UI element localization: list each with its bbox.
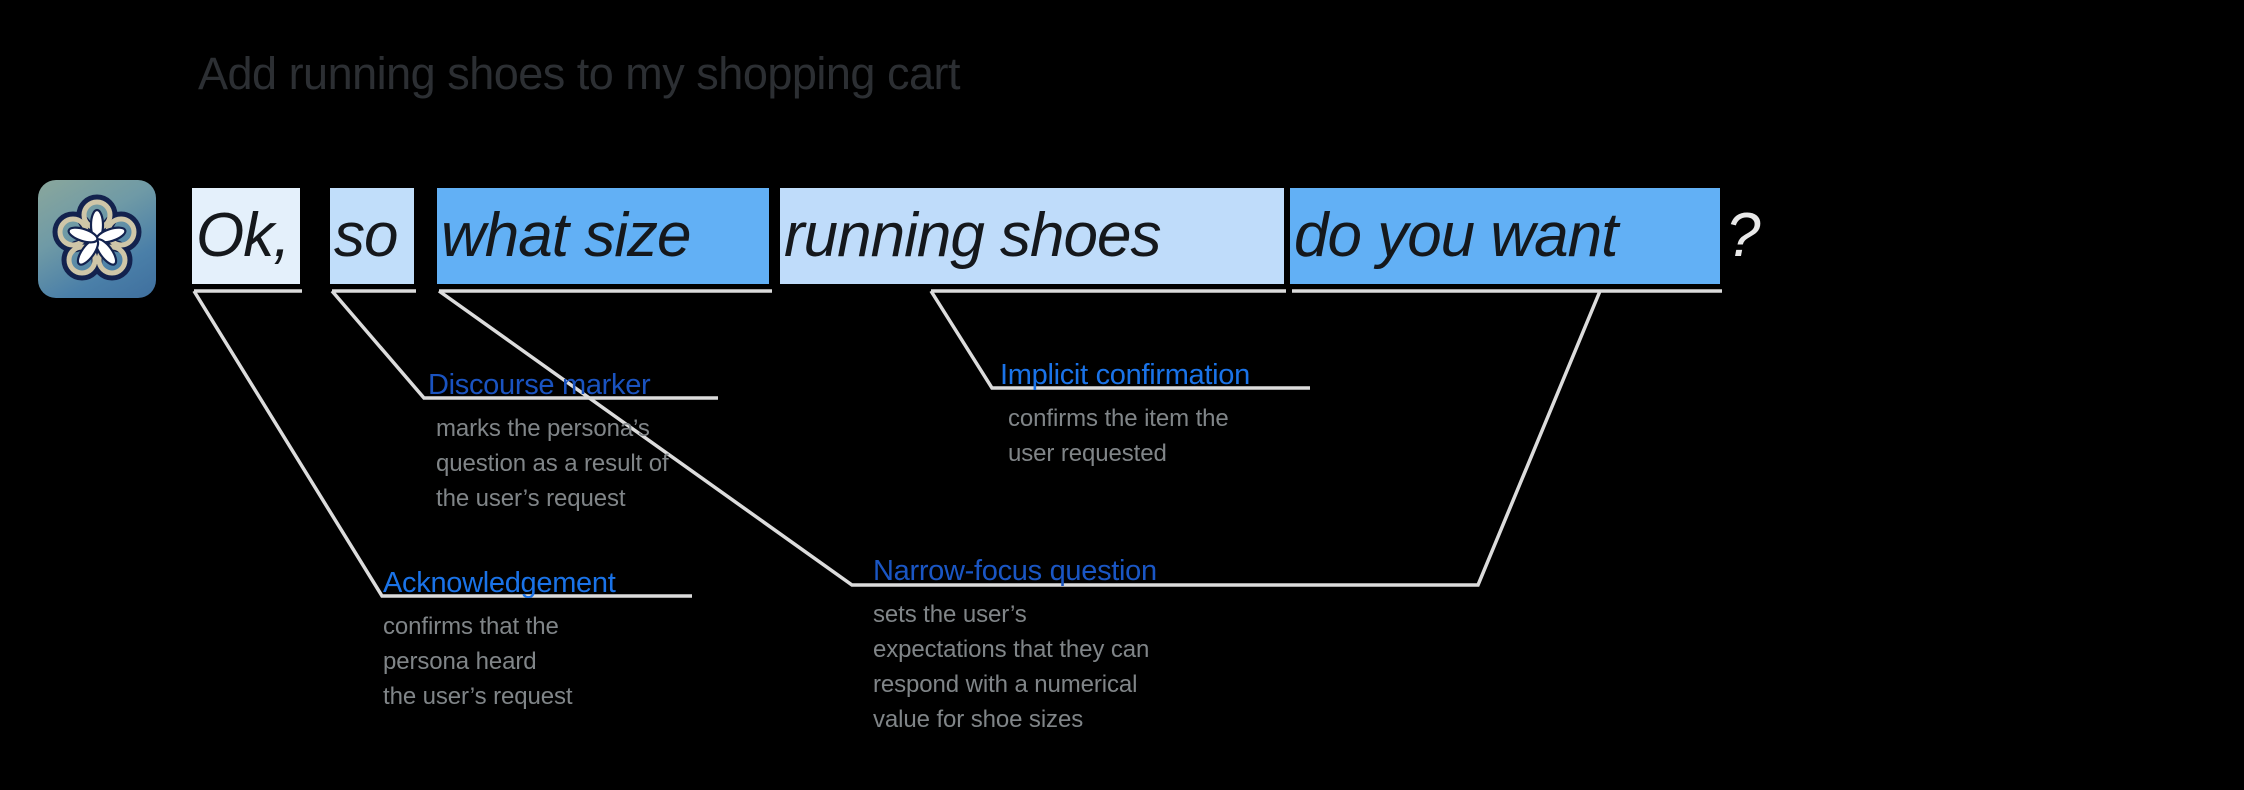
annotation-heading: Acknowledgement — [383, 566, 723, 600]
annotation-discourse-marker: Discourse marker marks the persona’s que… — [428, 368, 758, 516]
annotated-dialog-diagram: Add running shoes to my shopping cart — [0, 0, 2244, 790]
annotation-heading: Discourse marker — [428, 368, 758, 402]
annotation-body: marks the persona’s question as a result… — [436, 411, 758, 516]
annotation-heading: Implicit confirmation — [1000, 358, 1350, 392]
annotation-implicit-confirmation: Implicit confirmation confirms the item … — [1000, 358, 1350, 471]
annotation-heading: Narrow-focus question — [873, 554, 1303, 588]
annotation-body: confirms the item the user requested — [1008, 401, 1350, 471]
annotation-body: sets the user’s expectations that they c… — [873, 597, 1303, 737]
annotation-body: confirms that the persona heard the user… — [383, 609, 723, 714]
annotation-acknowledgement: Acknowledgement confirms that the person… — [383, 566, 723, 714]
annotation-narrow-focus-question: Narrow-focus question sets the user’s ex… — [873, 554, 1303, 737]
